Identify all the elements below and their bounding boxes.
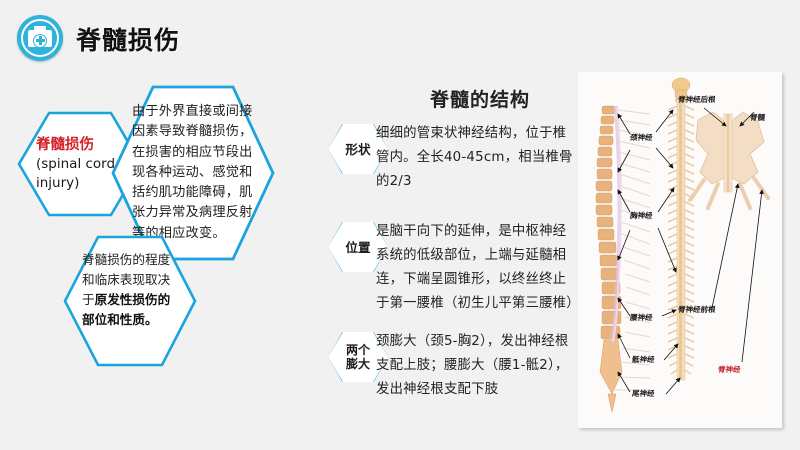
structure-desc-position: 是脑干向下的延伸，是中枢神经系统的低级部位，上端与延髓相连，下端呈圆锥形，以终丝… — [376, 220, 576, 316]
badge-enl-line1: 两个 — [346, 343, 370, 357]
anatomy-label-anterior-root: 脊神经前根 — [677, 304, 716, 315]
structure-desc-enlargements: 颈膨大（颈5-胸2），发出神经根支配上肢；腰膨大（腰1-骶2），发出神经根支配下… — [376, 330, 576, 402]
first-aid-kit-icon — [17, 15, 63, 61]
definition-body: 由于外界直接或间接因素导致脊髓损伤，在损害的相应节段出现各种运动、感觉和括约肌功… — [132, 102, 254, 243]
term-cn: 脊髓损伤 — [36, 135, 124, 155]
anatomy-label-spinal-cord: 脊髓 — [749, 112, 765, 123]
spinal-cord-anatomy-image: 脊神经后根 脊髓 颈神经 胸神经 脊神经前根 腰神经 骶神经 尾神经 脊神经 — [578, 72, 782, 428]
kit-cross-horizontal — [36, 39, 45, 42]
structure-desc-shape: 细细的管束状神经结构，位于椎管内。全长40-45cm，相当椎骨的2/3 — [376, 122, 576, 194]
anatomy-label-lumbar-nerves: 腰神经 — [629, 312, 653, 323]
anatomy-label-spinal-nerve: 脊神经 — [717, 364, 741, 375]
hexagon-definition-text: 由于外界直接或间接因素导致脊髓损伤，在损害的相应节段出现各种运动、感觉和括约肌功… — [112, 86, 274, 260]
severity-bold: 原发性损伤的部位和性质。 — [82, 292, 170, 327]
anatomy-label-cervical-nerves: 颈神经 — [629, 132, 653, 143]
anatomy-label-thoracic-nerves: 胸神经 — [629, 210, 653, 221]
hexagon-definition: 由于外界直接或间接因素导致脊髓损伤，在损害的相应节段出现各种运动、感觉和括约肌功… — [112, 86, 274, 260]
severity-body: 脊髓损伤的程度和临床表现取决于原发性损伤的部位和性质。 — [82, 250, 178, 330]
page-title: 脊髓损伤 — [76, 21, 180, 57]
badge-enl-line2: 膨大 — [346, 357, 370, 371]
anatomy-label-posterior-root: 脊神经后根 — [677, 94, 716, 105]
anatomy-label-coccygeal-nerves: 尾神经 — [631, 388, 655, 399]
term-en: (spinal cord injury) — [36, 155, 124, 193]
hexagon-severity-text: 脊髓损伤的程度和临床表现取决于原发性损伤的部位和性质。 — [64, 236, 196, 366]
hexagon-severity: 脊髓损伤的程度和临床表现取决于原发性损伤的部位和性质。 — [64, 236, 196, 366]
anatomy-label-sacral-nerves: 骶神经 — [631, 354, 655, 365]
page-header: 脊髓损伤 — [0, 0, 800, 66]
anatomy-illustration — [578, 72, 782, 428]
